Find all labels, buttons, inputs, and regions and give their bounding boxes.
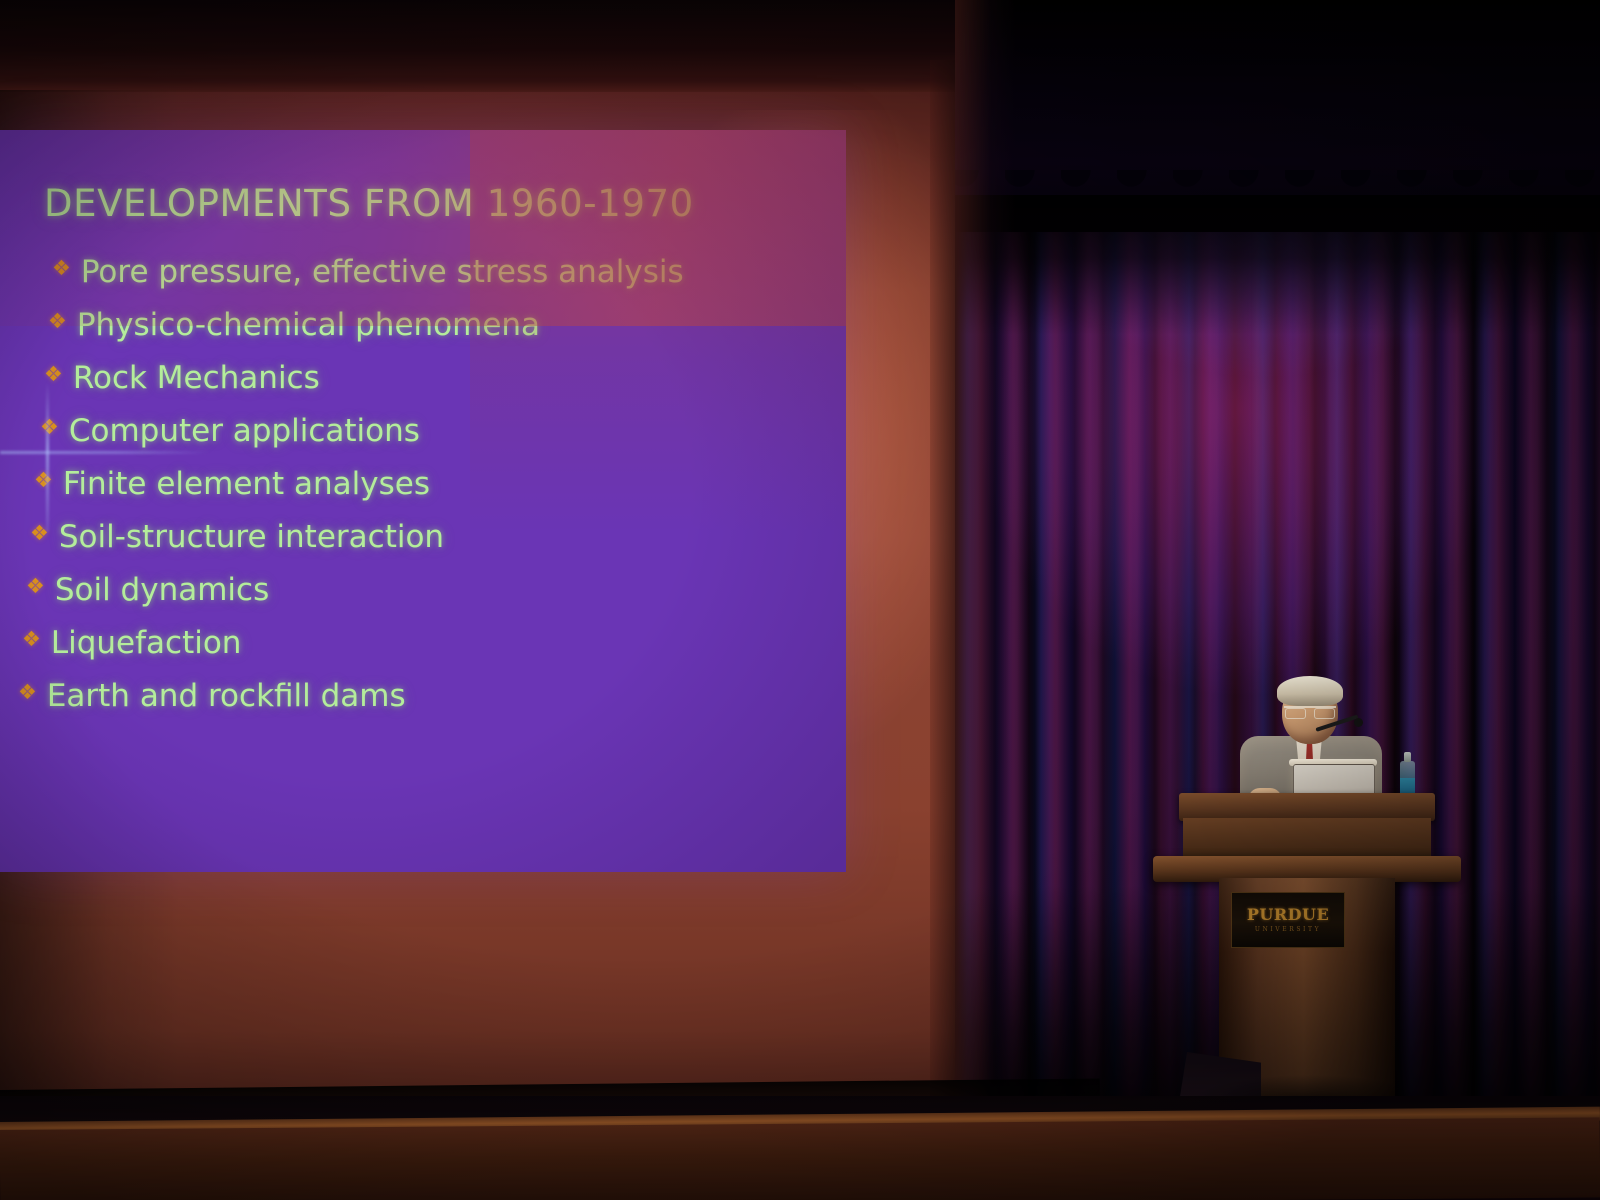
lecture-hall-photo: DEVELOPMENTS FROM 1960-1970 ❖ Pore press…	[0, 0, 1600, 1200]
list-item: ❖ Earth and rockfill dams	[0, 672, 846, 721]
podium-desktop	[1179, 793, 1435, 821]
bottle-label	[1400, 778, 1415, 793]
bullet-text: Soil-structure interaction	[59, 513, 444, 562]
bullet-text: Finite element analyses	[63, 460, 430, 509]
list-item: ❖ Finite element analyses	[0, 460, 846, 509]
presenter-hair	[1277, 676, 1343, 706]
list-item: ❖ Soil-structure interaction	[0, 513, 846, 562]
podium-upper-body	[1183, 818, 1431, 860]
list-item: ❖ Physico-chemical phenomena	[0, 301, 846, 350]
slide-content: DEVELOPMENTS FROM 1960-1970 ❖ Pore press…	[0, 130, 846, 872]
valance-shadow	[955, 195, 1600, 335]
slide-title: DEVELOPMENTS FROM 1960-1970	[44, 182, 694, 225]
bottle-cap	[1404, 752, 1411, 762]
bullet-diamond-icon: ❖	[26, 576, 45, 597]
bullet-text: Liquefaction	[51, 619, 242, 668]
list-item: ❖ Liquefaction	[0, 619, 846, 668]
bullet-text: Computer applications	[69, 407, 420, 456]
podium-assembly: PURDUE UNIVERSITY	[1135, 660, 1475, 1130]
bullet-diamond-icon: ❖	[30, 523, 49, 544]
list-item: ❖ Rock Mechanics	[0, 354, 846, 403]
projection-screen: DEVELOPMENTS FROM 1960-1970 ❖ Pore press…	[0, 130, 846, 872]
water-bottle	[1400, 752, 1415, 799]
curtain-wall-transition	[955, 0, 1015, 1125]
bullet-text: Earth and rockfill dams	[47, 672, 406, 721]
bullet-text: Rock Mechanics	[73, 354, 320, 403]
list-item: ❖ Pore pressure, effective stress analys…	[0, 248, 846, 297]
bullet-diamond-icon: ❖	[22, 629, 41, 650]
plaque-subtext: UNIVERSITY	[1255, 926, 1321, 933]
bullet-text: Soil dynamics	[55, 566, 269, 615]
bullet-diamond-icon: ❖	[52, 258, 71, 279]
bullet-text: Physico-chemical phenomena	[77, 301, 540, 350]
slide-bullet-list: ❖ Pore pressure, effective stress analys…	[0, 248, 846, 725]
list-item: ❖ Soil dynamics	[0, 566, 846, 615]
bullet-diamond-icon: ❖	[18, 682, 37, 703]
bullet-diamond-icon: ❖	[48, 311, 67, 332]
stage-apron	[0, 1117, 1600, 1200]
podium-plaque: PURDUE UNIVERSITY	[1231, 892, 1345, 948]
eyeglasses-icon	[1284, 706, 1336, 718]
wall-upper-shadow-band	[0, 0, 975, 92]
bullet-diamond-icon: ❖	[34, 470, 53, 491]
bullet-diamond-icon: ❖	[40, 417, 59, 438]
bullet-text: Pore pressure, effective stress analysis	[81, 248, 684, 297]
list-item: ❖ Computer applications	[0, 407, 846, 456]
microphone-icon	[1354, 718, 1363, 727]
plaque-wordmark: PURDUE	[1247, 907, 1329, 923]
bullet-diamond-icon: ❖	[44, 364, 63, 385]
